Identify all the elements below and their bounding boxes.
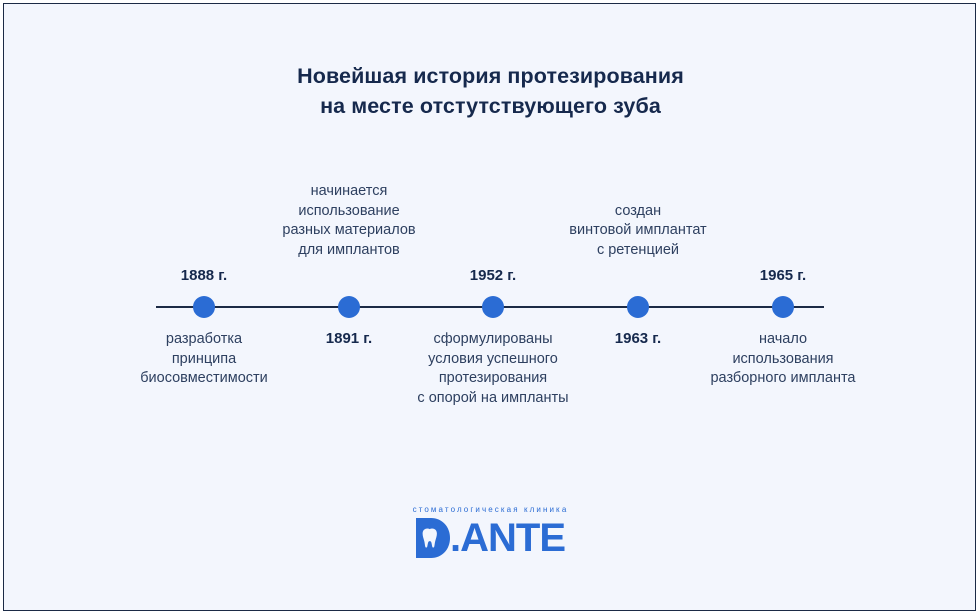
slide-canvas: Новейшая история протезирования на месте… bbox=[3, 3, 976, 611]
description-line: разборного импланта bbox=[653, 369, 913, 389]
description-line: для имплантов bbox=[219, 241, 479, 261]
milestone-description: начинаетсяиспользованиеразных материалов… bbox=[219, 182, 479, 260]
description-line: условия успешного bbox=[363, 350, 623, 370]
description-line: винтовой имплантат bbox=[508, 221, 768, 241]
description-line: разных материалов bbox=[219, 221, 479, 241]
milestone-year: 1888 г. bbox=[74, 267, 334, 284]
timeline-dot[interactable] bbox=[772, 296, 794, 318]
logo-text: .ANTE bbox=[450, 518, 565, 558]
milestone-description: началоиспользованияразборного импланта bbox=[653, 330, 913, 389]
milestone-description: созданвинтовой имплантатс ретенцией bbox=[508, 202, 768, 261]
description-line: биосовместимости bbox=[74, 369, 334, 389]
description-line: с опорой на импланты bbox=[363, 389, 623, 409]
milestone-description-area: созданвинтовой имплантатс ретенцией bbox=[508, 200, 768, 260]
timeline-dot[interactable] bbox=[338, 296, 360, 318]
description-line: начинается bbox=[219, 182, 479, 202]
description-line: использование bbox=[219, 202, 479, 222]
timeline-dot[interactable] bbox=[627, 296, 649, 318]
milestone-year: 1952 г. bbox=[363, 267, 623, 284]
description-line: принципа bbox=[74, 350, 334, 370]
logo-caption: стоматологическая клиника bbox=[4, 504, 976, 516]
milestone-year: 1965 г. bbox=[653, 267, 913, 284]
timeline-dot[interactable] bbox=[193, 296, 215, 318]
timeline-dot[interactable] bbox=[482, 296, 504, 318]
description-line: создан bbox=[508, 202, 768, 222]
tooth-in-d-icon bbox=[416, 518, 450, 558]
description-line: с ретенцией bbox=[508, 241, 768, 261]
brand-logo: стоматологическая клиника .ANTE bbox=[4, 504, 976, 563]
logo-wordmark: .ANTE bbox=[416, 518, 565, 558]
milestone-description-area: начинаетсяиспользованиеразных материалов… bbox=[219, 200, 479, 260]
description-line: использования bbox=[653, 350, 913, 370]
description-line: протезирования bbox=[363, 369, 623, 389]
description-line: начало bbox=[653, 330, 913, 350]
